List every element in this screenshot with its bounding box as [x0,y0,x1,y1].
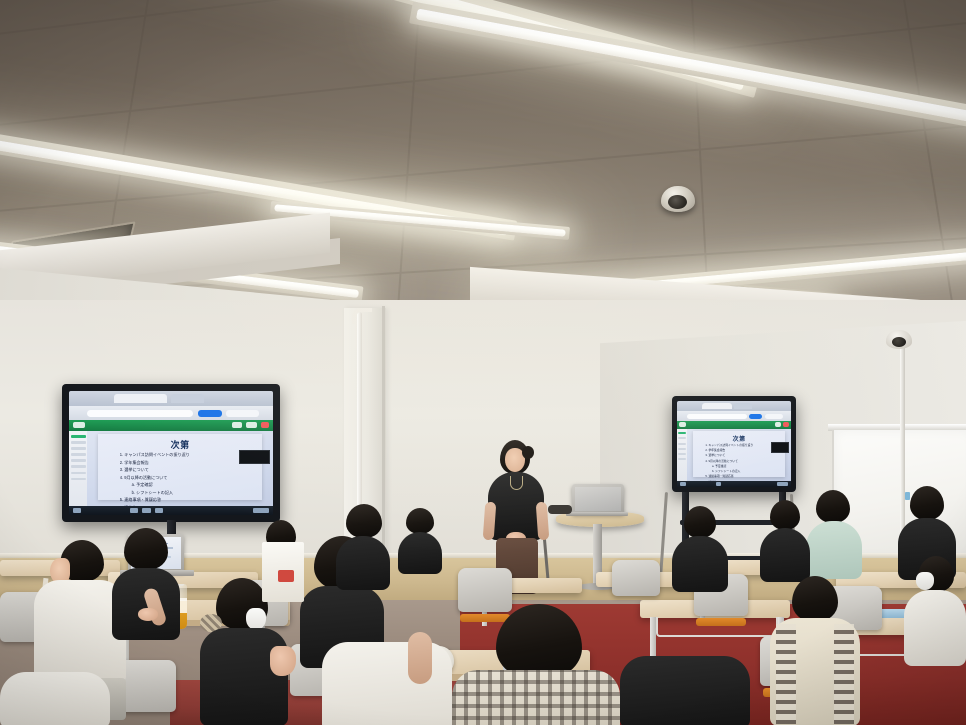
taskbar-clock[interactable] [777,482,787,485]
slide-thumbnail[interactable] [71,478,86,481]
slide-bullet: 3. 選挙について [120,466,252,474]
student-shirt [760,528,810,582]
student-arm [408,632,432,684]
hoodie-plaid-trim [776,624,796,724]
browser-tab-strip[interactable] [69,391,273,406]
slide-thumbnail[interactable] [678,458,686,460]
display-screen: 次第 1. キャンパス訪問イベントの振り返り 2. 学年集会報告 3. 選挙につ… [69,391,273,515]
presenter-laptop[interactable] [572,484,624,514]
slide-bullet: b. シフトシートの記入 [120,489,252,497]
student-head [406,508,434,534]
student-black-tee-laptop [108,528,184,652]
chair-seat [696,618,746,626]
right-wall-display[interactable]: 次第 1. キャンパス訪問イベントの振り返り 2. 学年集会報告 3. 選挙につ… [672,396,796,492]
browser-url-field[interactable] [687,414,746,419]
toolbar-control[interactable] [246,422,256,428]
browser-tab[interactable] [734,403,752,410]
student-gray-tee-right [672,506,728,586]
student-shirt [322,642,452,725]
slide-thumbnail[interactable] [678,448,686,450]
student-left-front-white [0,672,110,725]
laptop-screen [575,487,621,511]
taskbar-icon[interactable] [155,508,163,513]
student-head [910,486,944,520]
slide-thumbnail[interactable] [71,453,86,456]
slide-bullet: 4. 9月以降の活動について [120,474,252,482]
browser-tab-strip[interactable] [677,401,791,411]
student-shirt [452,670,620,725]
slide-canvas: 次第 1. キャンパス訪問イベントの振り返り 2. 学年集会報告 3. 選挙につ… [687,429,791,481]
dome-security-camera [886,330,912,349]
windows-taskbar[interactable] [677,481,791,487]
student-head [770,500,800,530]
student-short-hair-back [336,504,390,584]
student-mask-right [904,556,966,666]
share-button[interactable] [226,410,259,417]
slide-thumbnail-rail[interactable] [677,429,687,481]
display-bezel: 次第 1. キャンパス訪問イベントの振り返り 2. 学年集会報告 3. 選挙につ… [69,391,273,515]
student-dark-right-back [760,500,810,580]
student-shirt [806,521,862,579]
student-plaid-front [452,604,620,725]
browser-address-bar[interactable] [677,411,791,420]
taskbar-icon[interactable] [73,508,81,513]
video-call-thumbnail [239,450,271,464]
taskbar-icon[interactable] [130,508,138,513]
slide-thumbnail[interactable] [71,465,86,468]
presentation-slide: 次第 1. キャンパス訪問イベントの振り返り 2. 学年集会報告 3. 選挙につ… [693,431,784,477]
presenter-hair-bun [522,446,534,459]
browser-url-field[interactable] [87,410,193,417]
left-wall-display[interactable]: 次第 1. キャンパス訪問イベントの振り返り 2. 学年集会報告 3. 選挙につ… [62,384,280,522]
student-plaid-shirt [770,576,860,725]
laptop-base [566,512,628,516]
slide-bullet-list: 1. キャンパス訪問イベントの振り返り 2. 学年集会報告 3. 選挙について … [705,443,779,486]
taskbar-icon[interactable] [716,482,722,485]
student-shirt [398,532,442,574]
slide-thumbnail[interactable] [678,432,686,434]
student-shirt [336,536,390,590]
presenter-arm [536,502,550,541]
face-mask [916,572,934,590]
student-hand [138,608,158,621]
student-shirt [200,628,288,725]
slide-bullet: 2. 学年集会報告 [120,459,252,467]
slide-bullet: 5. 連絡事項・質疑応答 [120,496,252,504]
student-head [124,528,168,570]
student-shirt [672,536,728,592]
slide-thumbnail[interactable] [71,459,86,462]
student-center-back-dark [398,508,442,570]
taskbar-icon[interactable] [680,482,686,485]
student-hand [270,646,296,676]
present-button[interactable] [749,414,763,419]
student-head [346,504,382,538]
slide-thumbnail-rail[interactable] [69,431,87,507]
slide-thumbnail[interactable] [678,443,686,445]
browser-tab[interactable] [114,394,167,404]
toolbar-control[interactable] [261,422,269,428]
camera-lens [668,195,687,209]
student-head [496,604,582,680]
slide-thumbnail[interactable] [71,472,86,475]
slide-thumbnail[interactable] [678,453,686,455]
browser-tab[interactable] [702,403,732,410]
student-shirt [0,672,110,725]
video-call-thumbnail [771,442,790,452]
browser-tab[interactable] [171,394,204,404]
conduit-elbow [352,308,372,324]
presenter-necklace [510,476,523,490]
slide-thumbnail[interactable] [678,437,686,439]
face-mask [246,608,266,630]
hoodie-plaid-trim [834,624,854,724]
presentation-slide: 次第 1. キャンパス訪問イベントの振り返り 2. 学年集会報告 3. 選挙につ… [98,434,261,501]
slide-title: 次第 [98,438,261,451]
windows-taskbar[interactable] [69,506,273,515]
slides-toolbar[interactable] [69,420,273,431]
slide-thumbnail[interactable] [71,447,86,450]
student-head [684,506,716,538]
student-head [816,490,850,523]
share-button[interactable] [765,414,783,419]
slide-bullet: a. 予定確認 [120,481,252,489]
camera-lens [892,337,906,347]
taskbar-clock[interactable] [253,508,269,513]
slide-bullet-list: 1. キャンパス訪問イベントの振り返り 2. 学年集会報告 3. 選挙について … [120,451,252,512]
student-white-bag-holder [252,520,312,600]
cable-bundle [548,505,572,514]
dome-security-camera [661,186,695,212]
student-head [792,576,838,622]
student-right-front-dark [620,646,750,725]
bag-logo [278,570,294,582]
toolbar-control[interactable] [232,422,242,428]
slide-thumbnail[interactable] [71,441,86,444]
taskbar-icon[interactable] [142,508,150,513]
toolbar-control[interactable] [73,422,85,428]
slide-thumbnail[interactable] [71,435,86,438]
student-shirt [620,656,750,725]
display-screen: 次第 1. キャンパス訪問イベントの振り返り 2. 学年集会報告 3. 選挙につ… [677,401,791,487]
slide-bullet: 1. キャンパス訪問イベントの振り返り [120,451,252,459]
chair-back [612,560,660,596]
browser-address-bar[interactable] [69,406,273,420]
toolbar-control[interactable] [679,422,686,426]
student-shirt [904,590,966,666]
student-mint-tee [806,490,862,576]
slide-canvas: 次第 1. キャンパス訪問イベントの振り返り 2. 学年集会報告 3. 選挙につ… [87,431,273,507]
classroom-scene: 次第 1. キャンパス訪問イベントの振り返り 2. 学年集会報告 3. 選挙につ… [0,0,966,725]
display-bezel: 次第 1. キャンパス訪問イベントの振り返り 2. 学年集会報告 3. 選挙につ… [677,401,791,487]
slides-toolbar[interactable] [677,421,791,429]
toolbar-control[interactable] [783,422,789,426]
present-button[interactable] [198,410,222,417]
toolbar-control[interactable] [775,422,781,426]
student-white-tee-front [322,622,452,725]
